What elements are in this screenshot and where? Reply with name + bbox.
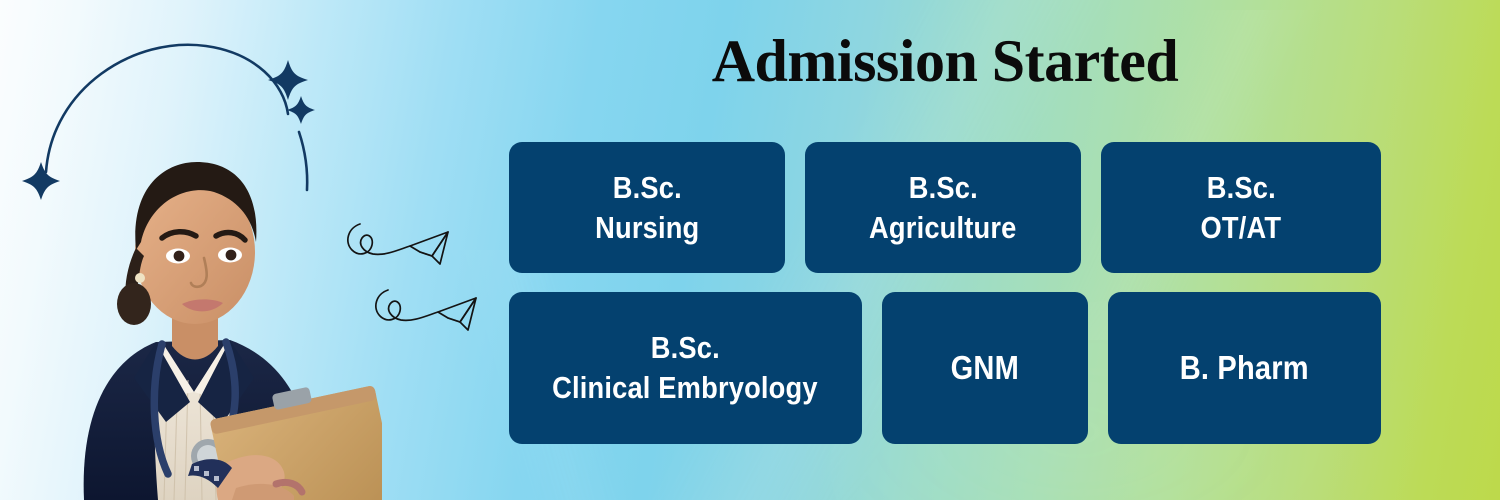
course-card-line-2: Clinical Embryology — [552, 368, 818, 408]
course-card-line-1: B. Pharm — [1180, 347, 1309, 389]
person-photo — [22, 92, 382, 500]
course-card-b-pharm[interactable]: B. Pharm — [1108, 292, 1381, 444]
course-card-bsc-agriculture[interactable]: B.Sc. Agriculture — [805, 142, 1081, 273]
course-row-1: B.Sc. Nursing B.Sc. Agriculture B.Sc. OT… — [509, 142, 1381, 273]
course-card-line-1: B.Sc. — [612, 168, 681, 208]
course-card-grid: B.Sc. Nursing B.Sc. Agriculture B.Sc. OT… — [509, 142, 1381, 444]
course-card-gnm[interactable]: GNM — [882, 292, 1088, 444]
course-card-line-1: GNM — [950, 347, 1018, 389]
admission-banner: Admission Started B.Sc. Nursing B.Sc. Ag… — [0, 0, 1500, 500]
course-row-2: B.Sc. Clinical Embryology GNM B. Pharm — [509, 292, 1381, 444]
course-card-line-1: B.Sc. — [651, 328, 720, 368]
paper-plane-bottom-icon — [376, 290, 476, 330]
page-title: Admission Started — [505, 30, 1385, 93]
course-card-bsc-clinical-embryology[interactable]: B.Sc. Clinical Embryology — [509, 292, 862, 444]
course-card-line-2: OT/AT — [1201, 208, 1282, 248]
course-card-line-2: Nursing — [595, 208, 699, 248]
course-card-line-2: Agriculture — [869, 208, 1016, 248]
course-card-line-1: B.Sc. — [908, 168, 977, 208]
course-card-bsc-nursing[interactable]: B.Sc. Nursing — [509, 142, 785, 273]
course-card-line-1: B.Sc. — [1206, 168, 1275, 208]
course-card-bsc-ot-at[interactable]: B.Sc. OT/AT — [1101, 142, 1381, 273]
